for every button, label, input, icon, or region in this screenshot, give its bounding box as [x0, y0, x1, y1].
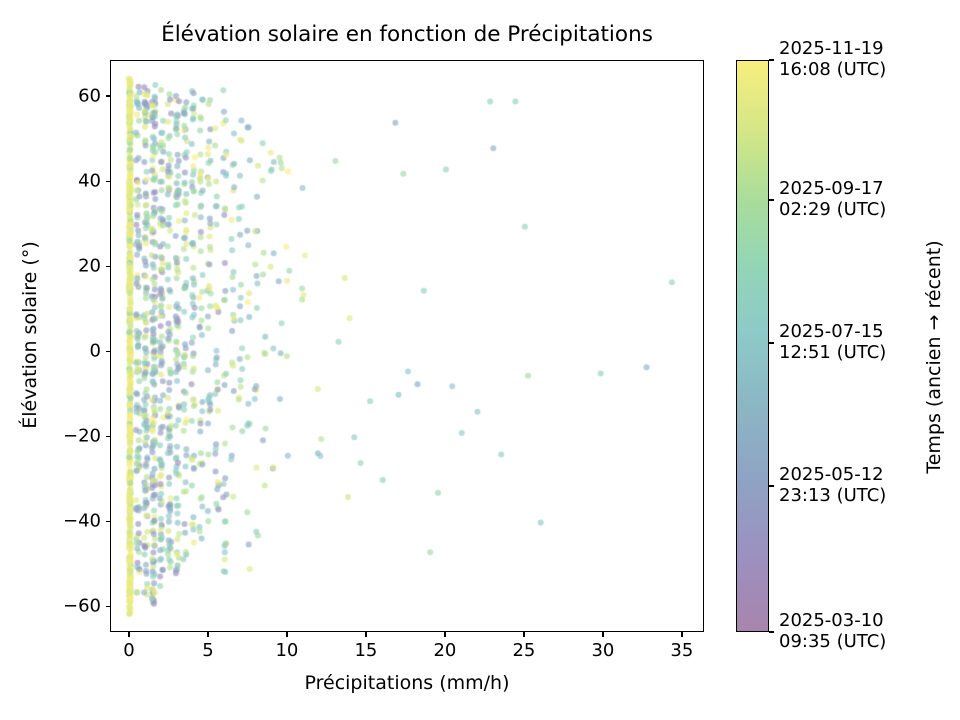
matplotlib-figure: Élévation solaire en fonction de Précipi…: [0, 0, 960, 720]
y-tick-mark: [106, 95, 111, 96]
colorbar-tick-label-date: 2025-11-19: [779, 38, 886, 59]
x-tick-label: 30: [591, 640, 614, 661]
y-tick-label: 40: [78, 171, 101, 192]
y-tick-label: −20: [63, 426, 101, 447]
x-tick-label: 15: [354, 640, 377, 661]
scatter-points-canvas: [111, 61, 705, 633]
x-tick-label: 10: [275, 640, 298, 661]
colorbar-tick-label: 2025-11-1916:08 (UTC): [779, 38, 886, 80]
y-tick-label: −60: [63, 596, 101, 617]
colorbar-tick-mark: [769, 631, 774, 633]
colorbar-tick-label-date: 2025-03-10: [779, 610, 886, 631]
y-tick-label: 60: [78, 86, 101, 107]
colorbar-tick-mark: [769, 485, 774, 487]
colorbar-tick-label-date: 2025-05-12: [779, 464, 886, 485]
x-axis-label: Précipitations (mm/h): [110, 672, 704, 694]
x-tick-mark: [523, 632, 524, 637]
x-tick-mark: [286, 632, 287, 637]
colorbar-tick-label-time: 09:35 (UTC): [779, 631, 886, 652]
colorbar-tick-label-date: 2025-07-15: [779, 321, 886, 342]
colorbar-tick-label-time: 23:13 (UTC): [779, 485, 886, 506]
x-tick-label: 5: [202, 640, 213, 661]
x-tick-mark: [207, 632, 208, 637]
y-tick-mark: [106, 181, 111, 182]
colorbar-tick-mark: [769, 59, 774, 61]
x-tick-label: 20: [433, 640, 456, 661]
colorbar: [736, 60, 769, 632]
x-tick-mark: [444, 632, 445, 637]
y-tick-label: −40: [63, 511, 101, 532]
x-tick-label: 35: [670, 640, 693, 661]
y-tick-label: 20: [78, 256, 101, 277]
x-tick-mark: [681, 632, 682, 637]
colorbar-tick-label: 2025-07-1512:51 (UTC): [779, 321, 886, 363]
colorbar-gradient: [737, 61, 768, 631]
colorbar-tick-label: 2025-05-1223:13 (UTC): [779, 464, 886, 506]
y-tick-label: 0: [90, 341, 101, 362]
colorbar-tick-mark: [769, 199, 774, 201]
colorbar-tick-label-time: 02:29 (UTC): [779, 199, 886, 220]
colorbar-label: Temps (ancien → récent): [923, 71, 945, 643]
colorbar-tick-label: 2025-09-1702:29 (UTC): [779, 178, 886, 220]
colorbar-tick-label: 2025-03-1009:35 (UTC): [779, 610, 886, 652]
y-tick-mark: [106, 266, 111, 267]
y-tick-mark: [106, 606, 111, 607]
y-tick-mark: [106, 521, 111, 522]
x-tick-mark: [602, 632, 603, 637]
y-tick-mark: [106, 351, 111, 352]
scatter-plot-axes: [110, 60, 704, 632]
y-tick-mark: [106, 436, 111, 437]
colorbar-tick-label-time: 12:51 (UTC): [779, 342, 886, 363]
colorbar-tick-label-date: 2025-09-17: [779, 178, 886, 199]
x-tick-label: 25: [512, 640, 535, 661]
x-tick-mark: [128, 632, 129, 637]
y-axis-label: Élévation solaire (°): [19, 49, 41, 621]
x-tick-label: 0: [123, 640, 134, 661]
colorbar-tick-mark: [769, 342, 774, 344]
page-title: Élévation solaire en fonction de Précipi…: [110, 22, 704, 47]
colorbar-tick-label-time: 16:08 (UTC): [779, 59, 886, 80]
x-tick-mark: [365, 632, 366, 637]
